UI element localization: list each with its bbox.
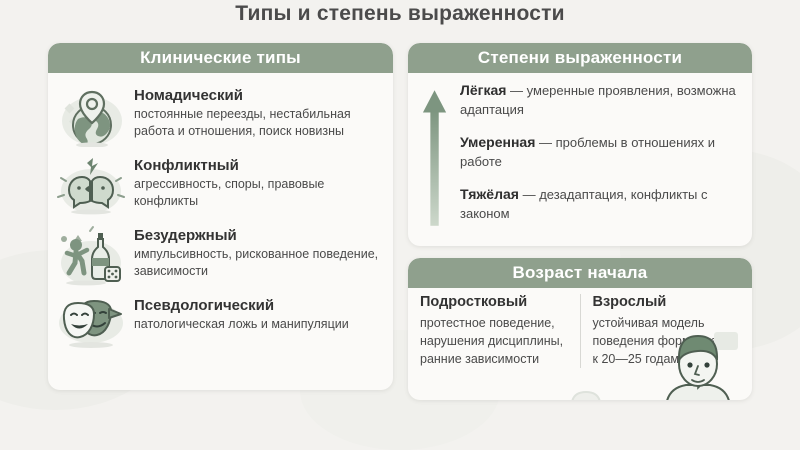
list-item-description: импульсивность, рискованное поведение, з…: [134, 246, 385, 280]
severity-list: Лёгкая — умеренные проявления, возможна …: [460, 77, 740, 238]
severity-name: Умеренная: [460, 134, 535, 150]
list-item: Номадический постоянные переезды, нестаб…: [56, 85, 385, 147]
panel-clinical-types-body: Номадический постоянные переезды, нестаб…: [48, 73, 393, 357]
list-item-description: агрессивность, споры, правовые конфликты: [134, 176, 385, 210]
list-item-title: Безудержный: [134, 227, 385, 244]
list-item-title: Конфликтный: [134, 157, 385, 174]
cloud-decoration-icon: [558, 378, 648, 400]
list-item-title: Псевдологический: [134, 297, 385, 314]
list-item-text: Псевдологический патологическая ложь и м…: [134, 295, 385, 333]
list-item: Тяжёлая — дезадаптация, конфликты с зако…: [460, 185, 740, 223]
list-item: Лёгкая — умеренные проявления, возможна …: [460, 81, 740, 119]
panel-clinical-types: Клинические типы Номадический по: [48, 43, 393, 390]
severity-dash: —: [510, 83, 523, 98]
severity-name: Тяжёлая: [460, 186, 519, 202]
severity-name: Лёгкая: [460, 82, 506, 98]
age-column-title: Подростковый: [420, 294, 568, 310]
panel-severity-degrees-body: Лёгкая — умеренные проявления, возможна …: [408, 73, 752, 238]
list-item: Умеренная — проблемы в отношениях и рабо…: [460, 133, 740, 171]
list-item-text: Безудержный импульсивность, рискованное …: [134, 225, 385, 280]
age-column-description: протестное поведение, нарушения дисципли…: [420, 314, 568, 368]
panel-age-of-onset-header: Возраст начала: [408, 258, 752, 288]
globe-pin-icon: [56, 85, 126, 147]
list-item-title: Номадический: [134, 87, 385, 104]
list-item-text: Номадический постоянные переезды, нестаб…: [134, 85, 385, 140]
list-item-description: постоянные переезды, нестабильная работа…: [134, 106, 385, 140]
severity-dash: —: [539, 135, 552, 150]
panel-clinical-types-header: Клинические типы: [48, 43, 393, 73]
person-portrait-icon: [656, 330, 748, 400]
arguing-heads-icon: [56, 155, 126, 217]
panel-severity-degrees: Степени выраженности Лёгкая — умеренные …: [408, 43, 752, 246]
severity-dash: —: [523, 187, 536, 202]
running-person-bottle-dice-icon: [56, 225, 126, 287]
age-column-title: Взрослый: [593, 294, 741, 310]
list-item: Конфликтный агрессивность, споры, правов…: [56, 155, 385, 217]
up-arrow-icon: [422, 77, 450, 238]
list-item-text: Конфликтный агрессивность, споры, правов…: [134, 155, 385, 210]
theatre-masks-icon: [56, 295, 126, 357]
panel-age-of-onset: Возраст начала Подростковый протестное п…: [408, 258, 752, 400]
panel-severity-degrees-header: Степени выраженности: [408, 43, 752, 73]
age-column-adolescent: Подростковый протестное поведение, наруш…: [408, 294, 580, 368]
page-title: Типы и степень выраженности: [0, 2, 800, 26]
list-item-description: патологическая ложь и манипуляции: [134, 316, 385, 333]
list-item: Безудержный импульсивность, рискованное …: [56, 225, 385, 287]
list-item: Псевдологический патологическая ложь и м…: [56, 295, 385, 357]
